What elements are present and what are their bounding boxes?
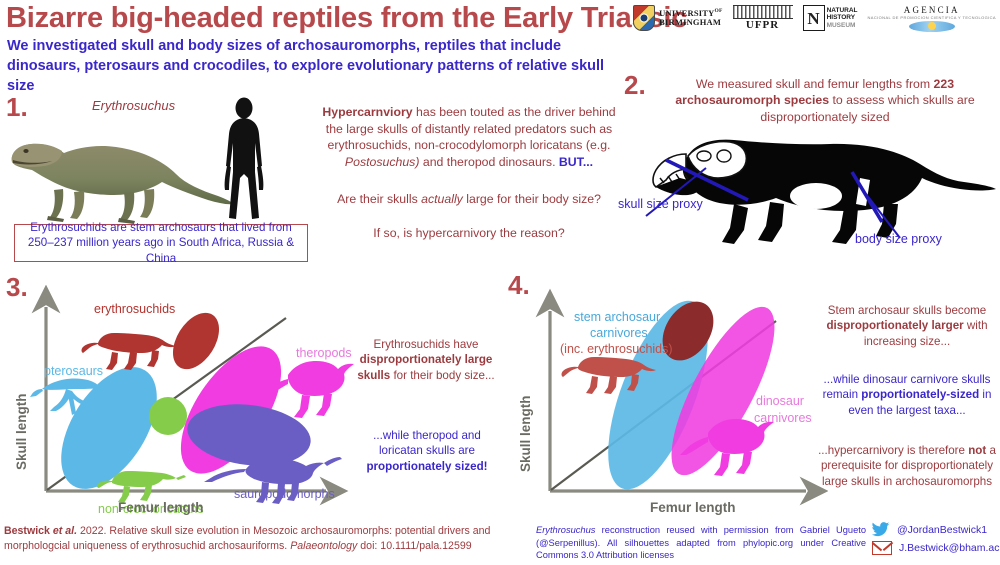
archosaur-silhouette-with-proxies-diagram	[630, 120, 1000, 250]
nhm-line3: MUSEUM	[827, 22, 856, 29]
section-1-number: 1.	[6, 92, 28, 123]
image-credit: Erythrosuchus reconstruction reused with…	[536, 524, 866, 562]
section-1-paragraph-tail: and theropod dinosaurs.	[419, 155, 558, 169]
section-2-paragraph: We measured skull and femur lengths from…	[660, 76, 990, 125]
twitter-handle[interactable]: @JordanBestwick1	[897, 524, 987, 536]
chart-4-label-stem-archosaur-carnivores-line2: carnivores	[590, 326, 648, 340]
email-address[interactable]: J.Bestwick@bham.ac.uk	[899, 542, 1000, 554]
agencia-wordmark: AGENCIA	[868, 5, 997, 15]
c4a3-p1: ...hypercarnivory is therefore	[818, 444, 968, 457]
agencia-oval-icon	[909, 21, 955, 32]
page-subtitle: We investigated skull and body sizes of …	[7, 36, 607, 96]
page-title: Bizarre big-headed reptiles from the Ear…	[6, 2, 687, 35]
section-1-question-2: If so, is hypercarnivory the reason?	[316, 226, 622, 240]
postosuchus-genus: Postosuchus)	[345, 155, 420, 169]
chart-3-annotation-1: Erythrosuchids have disproportionately l…	[352, 337, 500, 383]
chart-4-label-inc-erythrosuchids: (inc. erythrosuchids)	[560, 342, 673, 356]
university-of-birmingham-logo: UNIVERSITYOF BIRMINGHAM	[633, 5, 722, 31]
nhm-line2: HISTORY	[827, 14, 856, 21]
twitter-contact[interactable]: @JordanBestwick1	[872, 522, 987, 537]
body-size-proxy-label: body size proxy	[855, 232, 942, 246]
sec2-lead: We measured skull and femur lengths from	[696, 77, 934, 91]
journal-name: Palaeontology	[290, 540, 357, 552]
erythrosuchus-reconstruction-image	[4, 120, 234, 225]
erythrosuchid-fact-box: Erythrosuchids are stem archosaurs that …	[14, 224, 308, 262]
agencia-logo: AGENCIA NACIONAL DE PROMOCION CIENTIFICA…	[868, 5, 997, 32]
uob-crest-icon	[633, 5, 655, 31]
twitter-icon[interactable]	[872, 522, 890, 537]
chart-3-annotation-2: ...while theropod and loricatan skulls a…	[352, 428, 502, 474]
c3a2-p1: ...while theropod and loricatan skulls a…	[373, 429, 481, 457]
logo-strip: UNIVERSITYOF BIRMINGHAM UFPR N NATURAL H…	[633, 3, 996, 33]
nhm-n-icon: N	[803, 5, 825, 31]
section-1-paragraph: Hypercarnviory has been touted as the dr…	[316, 104, 622, 171]
citation: Bestwick et al. 2022. Relative skull siz…	[4, 524, 504, 553]
chart-3-ellipse-non-croc-loricatans	[149, 397, 187, 435]
nhm-line1: NATURAL	[827, 7, 858, 14]
chart-4-y-axis-label: Skull length	[518, 395, 533, 472]
chart-4-annotation-1: Stem archosaur skulls become disproporti…	[818, 303, 996, 349]
chart-3-plot: erythrosuchids pterosaurs theropods saur…	[6, 285, 356, 520]
uob-sup: OF	[715, 8, 723, 14]
agencia-subtext: NACIONAL DE PROMOCION CIENTIFICA Y TECNO…	[868, 15, 997, 20]
chart-4-annotation-2: ...while dinosaur carnivore skulls remai…	[818, 372, 996, 418]
c4a1-p1: Stem archosaur skulls become	[828, 304, 987, 317]
email-contact[interactable]: J.Bestwick@bham.ac.uk	[872, 541, 1000, 555]
envelope-icon[interactable]	[872, 541, 892, 555]
poster-root: Bizarre big-headed reptiles from the Ear…	[0, 0, 1000, 565]
chart-4-label-stem-archosaur-carnivores-line1: stem archosaur	[574, 310, 660, 324]
section-1-species-caption: Erythrosuchus	[92, 98, 175, 113]
chart-3-label-theropods: theropods	[296, 346, 352, 360]
natural-history-museum-logo: N NATURAL HISTORY MUSEUM	[803, 5, 858, 31]
uob-wordmark: UNIVERSITYOF BIRMINGHAM	[659, 9, 722, 27]
credit-genus: Erythrosuchus	[536, 525, 595, 535]
c3a2-p2: proportionately sized!	[366, 460, 487, 473]
chart-4-label-dinosaur-carnivores-line2: carnivores	[754, 411, 812, 425]
chart-4-label-dinosaur-carnivores-line1: dinosaur	[756, 394, 804, 408]
section-2-number: 2.	[624, 70, 646, 101]
actually-emphasis: actually	[421, 192, 463, 206]
c3a1-p3: for their body size...	[390, 369, 494, 382]
hypercarnivory-term: Hypercarnviory	[322, 105, 412, 119]
c4a3-p2: not	[968, 444, 986, 457]
chart-3-label-pterosaurs: pterosaurs	[44, 364, 103, 378]
citation-authors: Bestwick et al.	[4, 525, 77, 537]
chart-3-x-axis-label: Femur length	[118, 500, 204, 515]
skull-size-proxy-label: skull size proxy	[618, 197, 703, 211]
chart-4-x-axis-label: Femur length	[650, 500, 736, 515]
citation-doi: doi: 10.1111/pala.12599	[357, 540, 471, 552]
uob-line2: BIRMINGHAM	[659, 17, 721, 27]
chart-4-annotation-3: ...hypercarnivory is therefore not a pre…	[818, 443, 996, 489]
et-al: et al.	[53, 525, 77, 537]
but-emphasis: BUT...	[559, 155, 593, 169]
ufpr-building-icon	[733, 5, 793, 19]
chart-3-label-erythrosuchids: erythrosuchids	[94, 302, 175, 316]
section-1-question-1: Are their skulls actually large for thei…	[316, 192, 622, 206]
chart-4-plot: stem archosaur carnivores (inc. erythros…	[508, 285, 828, 520]
nhm-wordmark: NATURAL HISTORY MUSEUM	[827, 7, 858, 29]
chart-3-y-axis-label: Skull length	[14, 393, 29, 470]
c4a1-p2: disproportionately larger	[826, 319, 963, 332]
human-silhouette-icon	[216, 96, 272, 226]
ufpr-wordmark: UFPR	[733, 19, 793, 31]
chart-3-label-sauropodomorphs: sauropodomorphs	[234, 487, 335, 501]
ufpr-logo: UFPR	[733, 5, 793, 31]
c3a1-p1: Erythrosuchids have	[373, 338, 478, 351]
c4a2-p2: proportionately-sized	[861, 388, 979, 401]
